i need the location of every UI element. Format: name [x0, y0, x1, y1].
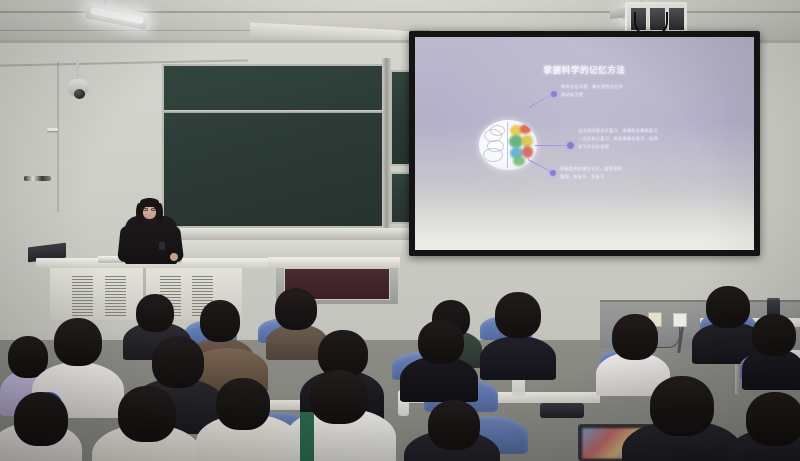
wall-outlet-secondary[interactable]: [673, 313, 687, 327]
projection-screen: 掌握科学的记忆方法: [415, 37, 754, 250]
bullet-2-line-2: 一月还有小复习 考前再做总复习 这样: [578, 135, 658, 143]
side-counter: [268, 257, 400, 268]
brain-diagram-icon: [479, 120, 537, 170]
equipment-bay-3: [668, 7, 685, 31]
brain-gyrus: [490, 125, 505, 136]
podium-vent: [72, 276, 93, 318]
projection-screen-frame: 掌握科学的记忆方法: [409, 31, 760, 256]
wall-mounted-bracket: [24, 176, 51, 181]
brain-gyrus: [483, 148, 503, 162]
presenter-hand: [170, 253, 178, 261]
podium-vent: [105, 276, 126, 318]
bullet-3-line-1: 明确是先机械生记忆，要部理的: [560, 165, 622, 173]
bullet-1-line-2: 调动成习惯: [561, 91, 623, 99]
slide-bullet-2: 当天的内容当天复习 本周的次课再复习 一月还有小复习 考前再做总复习 这样 学习…: [578, 127, 658, 151]
presenter-hair-fringe: [140, 198, 159, 207]
bullet-1-line-1: 常考记忆习惯，每天固件记忆学: [561, 83, 623, 91]
wall-fixture-small: [47, 128, 58, 131]
presenter-pocket: [159, 242, 165, 250]
blackboard-main: [162, 64, 386, 228]
foreground-shadow: [0, 330, 800, 461]
brain-midline: [507, 122, 508, 168]
connector-line-2: [535, 145, 570, 146]
brain-region-green-lower: [513, 156, 525, 166]
chalk-ledge: [160, 228, 422, 240]
wall-panel-edge: [57, 62, 59, 212]
brain-region-red: [520, 124, 531, 134]
bullet-node-3: [550, 170, 556, 176]
blackboard-rail: [164, 110, 384, 113]
slide-title: 掌握科学的记忆方法: [415, 64, 754, 76]
student-head: [136, 294, 174, 332]
bullet-node-2: [567, 142, 574, 149]
bullet-2-line-1: 当天的内容当天复习 本周的次课再复习: [578, 127, 658, 135]
slide-bullet-3: 明确是先机械生记忆，要部理的 重现，新复习，多复习: [560, 165, 622, 181]
brain-region-red-lower: [522, 146, 533, 158]
bullet-node-1: [551, 91, 557, 97]
bullet-2-line-3: 学习才记忆深固: [578, 143, 658, 151]
classroom-photo: 掌握科学的记忆方法: [0, 0, 800, 461]
bullet-3-line-2: 重现，新复习，多复习: [560, 173, 622, 181]
camera-lens-icon: [74, 89, 85, 99]
glasses-icon: [143, 208, 148, 211]
slide-bullet-1: 常考记忆习惯，每天固件记忆学 调动成习惯: [561, 83, 623, 99]
glasses-icon: [151, 208, 156, 211]
student-head: [706, 286, 750, 328]
student-head: [275, 288, 317, 330]
